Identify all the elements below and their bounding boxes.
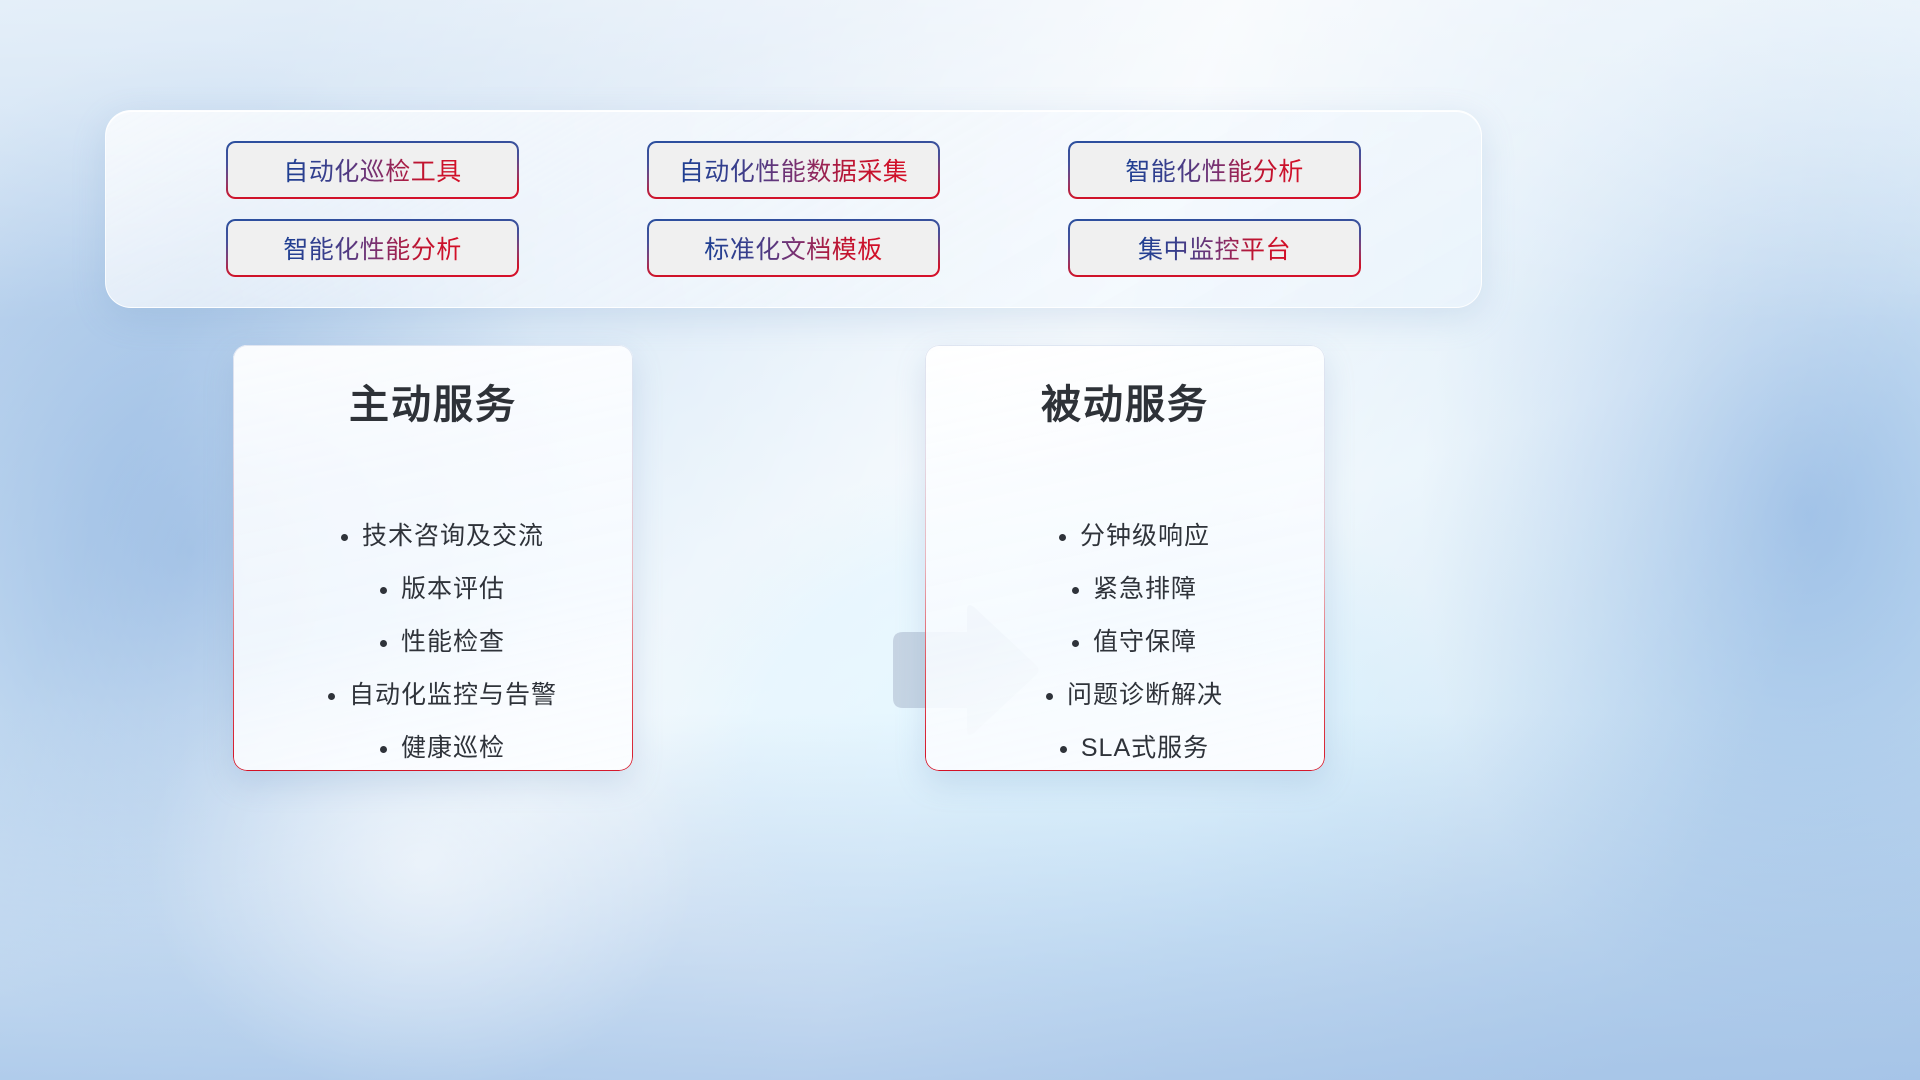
capability-pill-label: 标准化文档模板	[704, 230, 883, 266]
service-list-item: 紧急排障	[1093, 563, 1197, 616]
service-card-proactive: 主动服务 技术咨询及交流 版本评估 性能检查 自动化监控与告警 健康巡检	[233, 345, 633, 771]
service-list-item: 性能检查	[401, 616, 505, 669]
service-item-list: 分钟级响应 紧急排障 值守保障 问题诊断解决 SLA式服务	[905, 510, 1345, 775]
capability-pill[interactable]: 自动化性能数据采集	[647, 141, 940, 199]
capability-pill[interactable]: 智能化性能分析	[226, 219, 519, 277]
service-list-item: 问题诊断解决	[1067, 669, 1223, 722]
capability-pill-label: 智能化性能分析	[283, 230, 462, 266]
capability-pill-label: 集中监控平台	[1138, 230, 1291, 266]
slide-stage: 自动化巡检工具 自动化性能数据采集 智能化性能分析 智能化性能分析 标准化文档模…	[0, 0, 1920, 1080]
capabilities-pill-grid: 自动化巡检工具 自动化性能数据采集 智能化性能分析 智能化性能分析 标准化文档模…	[106, 111, 1481, 307]
service-list-item: SLA式服务	[1081, 722, 1209, 775]
service-list-item: 健康巡检	[401, 722, 505, 775]
service-list-item: 技术咨询及交流	[362, 510, 544, 563]
capability-pill[interactable]: 标准化文档模板	[647, 219, 940, 277]
capability-pill-label: 智能化性能分析	[1125, 152, 1304, 188]
service-list-item: 值守保障	[1093, 616, 1197, 669]
service-list-item: 自动化监控与告警	[349, 669, 557, 722]
service-item-list: 技术咨询及交流 版本评估 性能检查 自动化监控与告警 健康巡检	[213, 510, 653, 775]
service-list-item: 版本评估	[401, 563, 505, 616]
capability-pill-label: 自动化性能数据采集	[679, 152, 909, 188]
service-card-reactive: 被动服务 分钟级响应 紧急排障 值守保障 问题诊断解决 SLA式服务	[925, 345, 1325, 771]
capabilities-panel: 自动化巡检工具 自动化性能数据采集 智能化性能分析 智能化性能分析 标准化文档模…	[105, 110, 1482, 308]
capability-pill[interactable]: 集中监控平台	[1068, 219, 1361, 277]
service-card-title: 被动服务	[1041, 372, 1209, 430]
service-card-title: 主动服务	[349, 372, 517, 430]
capability-pill[interactable]: 智能化性能分析	[1068, 141, 1361, 199]
capability-pill-label: 自动化巡检工具	[283, 152, 462, 188]
service-list-item: 分钟级响应	[1080, 510, 1210, 563]
capability-pill[interactable]: 自动化巡检工具	[226, 141, 519, 199]
